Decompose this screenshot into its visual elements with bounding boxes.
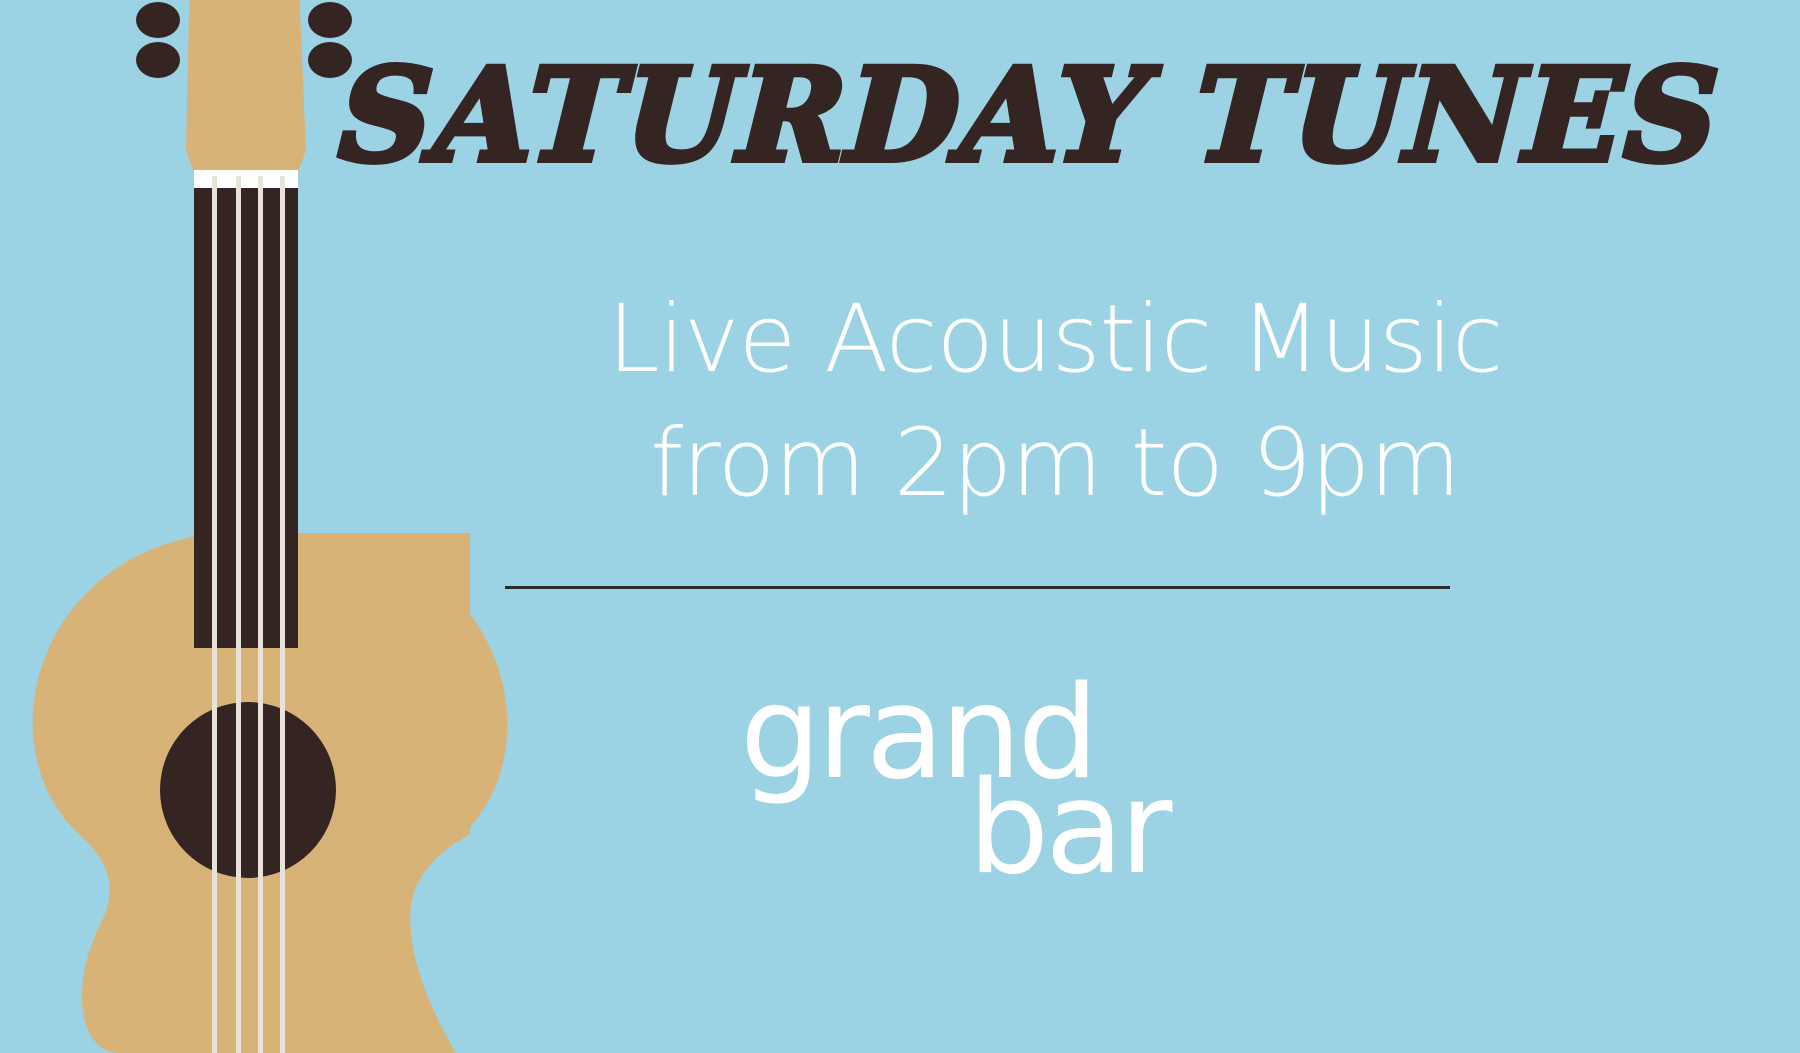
guitar-string [280, 176, 285, 1053]
guitar-nut [194, 170, 298, 188]
subtitle-block: Live Acoustic Music from 2pm to 9pm [500, 278, 1610, 526]
guitar-headstock [186, 0, 306, 178]
title-block: SATURDAY TUNES [340, 52, 1580, 180]
guitar-string [212, 176, 217, 1053]
tuning-peg [136, 42, 180, 78]
guitar-soundhole [160, 702, 336, 878]
guitar-neck [194, 188, 298, 648]
subtitle-line-1: Live Acoustic Music [500, 278, 1610, 402]
grand-bar-logo-mark: grand bar [740, 672, 1200, 882]
brand-logo: grand bar [740, 672, 1200, 882]
poster-content: SATURDAY TUNES Live Acoustic Music from … [340, 0, 1800, 1053]
poster-canvas: SATURDAY TUNES Live Acoustic Music from … [0, 0, 1800, 1053]
horizontal-divider [505, 586, 1450, 589]
page-title: SATURDAY TUNES [337, 52, 1584, 180]
tuning-peg [136, 2, 180, 38]
guitar-waist-left [0, 820, 65, 1053]
guitar-string [258, 176, 263, 1053]
subtitle-line-2: from 2pm to 9pm [500, 402, 1610, 526]
guitar-string [236, 176, 241, 1053]
logo-line-bar: bar [968, 754, 1173, 882]
